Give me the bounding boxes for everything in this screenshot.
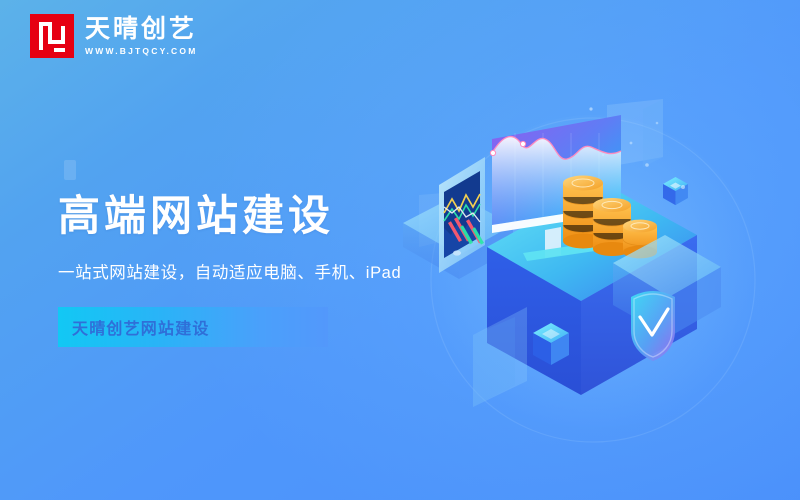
page-title: 高端网站建设 xyxy=(58,192,401,240)
cta-button[interactable]: 天晴创艺网站建设 xyxy=(58,307,328,347)
hero-copy: 高端网站建设 一站式网站建设，自动适应电脑、手机、iPad 天晴创艺网站建设 xyxy=(58,160,401,347)
logo-text-block: 天晴创艺 WWW.BJTQCY.COM xyxy=(85,16,198,55)
logo-mark-icon xyxy=(30,14,74,58)
hero-subtitle: 一站式网站建设，自动适应电脑、手机、iPad xyxy=(58,259,401,283)
brand-logo[interactable]: 天晴创艺 WWW.BJTQCY.COM xyxy=(30,14,198,58)
brand-name: 天晴创艺 xyxy=(85,16,198,42)
hero-banner: 天晴创艺 WWW.BJTQCY.COM 高端网站建设 一站式网站建设，自动适应电… xyxy=(0,0,800,500)
brand-website: WWW.BJTQCY.COM xyxy=(85,46,198,56)
hero-illustration xyxy=(395,95,795,495)
accent-chip xyxy=(64,160,76,180)
